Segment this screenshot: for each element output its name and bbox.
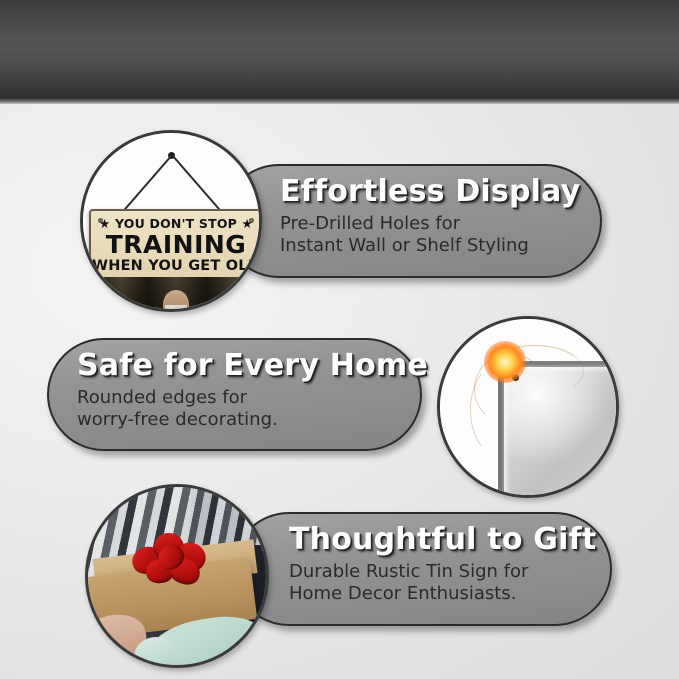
feature-row-safe-for-every-home: Safe for Every Home Rounded edges for wo…: [0, 310, 679, 496]
feature-title: Effortless Display: [280, 175, 570, 209]
header-banner: [0, 0, 679, 98]
feature-line-2: Home Decor Enthusiasts.: [289, 583, 580, 605]
feature-text-pill: Thoughtful to Gift Durable Rustic Tin Si…: [232, 512, 612, 626]
gift-box-handoff-photo: [85, 484, 269, 668]
sign-photo-area: [91, 277, 261, 311]
sign-text-line-2: TRAINING: [91, 230, 261, 259]
feature-line-1: Pre-Drilled Holes for: [280, 213, 570, 235]
feature-title: Thoughtful to Gift: [289, 523, 580, 557]
feature-title: Safe for Every Home: [77, 349, 390, 383]
photo-content: ★ YOU DON'T STOP ★ TRAINING WHEN YOU GET…: [83, 133, 259, 309]
sign-text-line-3: WHEN YOU GET OLD: [91, 258, 261, 274]
feature-line-1: Rounded edges for: [77, 387, 390, 409]
rounded-metal-corner-photo: [437, 316, 619, 498]
feature-line-1: Durable Rustic Tin Sign for: [289, 561, 580, 583]
header-divider: [0, 98, 679, 104]
tin-sign-plate: ★ YOU DON'T STOP ★ TRAINING WHEN YOU GET…: [89, 209, 262, 312]
feature-line-2: worry-free decorating.: [77, 409, 390, 431]
photo-content: [88, 487, 266, 665]
feature-text-pill: Safe for Every Home Rounded edges for wo…: [47, 338, 422, 451]
photo-content: [440, 319, 616, 495]
corner-glow-highlight: [484, 341, 526, 383]
red-ribbon-bow: [130, 529, 208, 583]
sign-text-line-1: ★ YOU DON'T STOP ★: [91, 216, 261, 231]
product-details-infographic: PRODUCT DETAILS Thoughtful Design Rounde…: [0, 0, 679, 679]
feature-text-pill: Effortless Display Pre-Drilled Holes for…: [222, 164, 602, 278]
feature-line-2: Instant Wall or Shelf Styling: [280, 235, 570, 257]
feature-row-thoughtful-to-gift: Thoughtful to Gift Durable Rustic Tin Si…: [0, 484, 679, 670]
hanging-tin-sign-photo: ★ YOU DON'T STOP ★ TRAINING WHEN YOU GET…: [80, 130, 262, 312]
man-beard: [165, 305, 187, 312]
feature-row-effortless-display: Effortless Display Pre-Drilled Holes for…: [0, 128, 679, 314]
